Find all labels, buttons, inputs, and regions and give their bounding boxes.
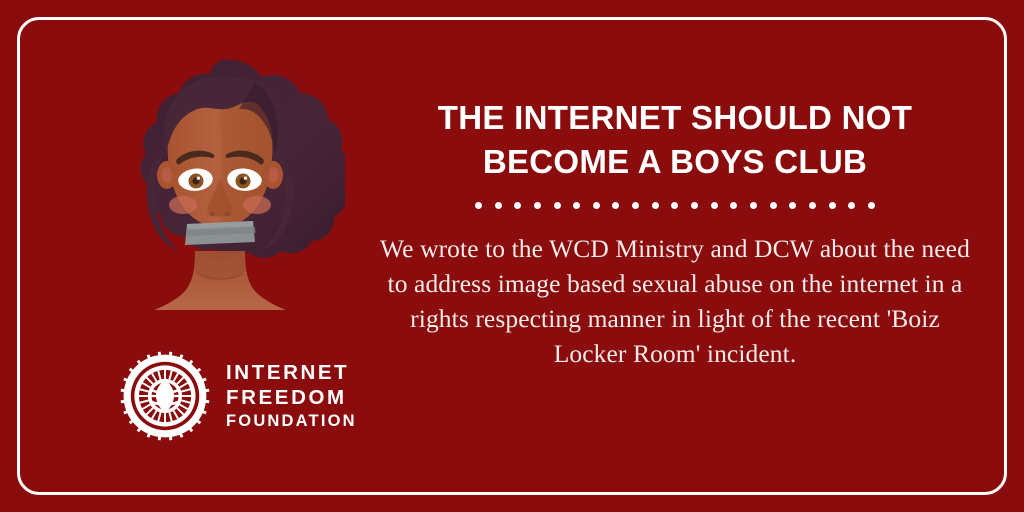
chakra-spoke (139, 395, 148, 397)
message-block: THE INTERNET SHOULD NOT BECOME A BOYS CL… (370, 96, 980, 371)
chakra-spoke (181, 399, 190, 403)
divider-dot (475, 202, 482, 209)
poster-canvas: THE INTERNET SHOULD NOT BECOME A BOYS CL… (0, 0, 1024, 512)
chakra-spoke (173, 373, 179, 382)
illustration-woman-with-taped-mouth (95, 55, 345, 310)
chakra-spoke (142, 382, 151, 388)
logo-text-internet: INTERNET (226, 360, 357, 385)
chakra-spoke (173, 410, 179, 419)
divider-dot (514, 202, 521, 209)
divider-dot (711, 202, 718, 209)
divider-dot (730, 202, 737, 209)
chakra-spoke (176, 407, 184, 415)
ashoka-chakra-globe-icon (120, 351, 210, 441)
divider-dot (691, 202, 698, 209)
dotted-divider (475, 201, 875, 209)
chakra-spoke (164, 413, 166, 422)
mouth-tape-icon (185, 221, 256, 245)
divider-dot (652, 202, 659, 209)
chakra-spoke (146, 407, 154, 415)
chakra-spoke (182, 395, 191, 397)
divider-dot (573, 202, 580, 209)
chakra-spoke (157, 371, 161, 380)
logo-text-freedom: FREEDOM (226, 385, 357, 410)
logo-text-foundation: FOUNDATION (226, 410, 357, 433)
chakra-spoke (146, 377, 154, 385)
divider-dot (495, 202, 502, 209)
chakra-spoke (142, 404, 151, 410)
chakra-spoke (157, 412, 161, 421)
divider-dot (829, 202, 836, 209)
body-text: We wrote to the WCD Ministry and DCW abo… (375, 231, 975, 371)
chakra-spoke (181, 388, 190, 392)
divider-dot (770, 202, 777, 209)
neck-and-shoulders (135, 251, 305, 310)
divider-dot (671, 202, 678, 209)
divider-dot (593, 202, 600, 209)
chakra-spoke (179, 404, 188, 410)
logo-lockup: INTERNET FREEDOM FOUNDATION (120, 351, 357, 441)
divider-dot (750, 202, 757, 209)
chakra-spoke (151, 373, 157, 382)
divider-dot (632, 202, 639, 209)
divider-dot (534, 202, 541, 209)
divider-dot (612, 202, 619, 209)
chakra-spoke (168, 371, 172, 380)
chakra-spoke (164, 370, 166, 379)
chakra-spoke (140, 388, 149, 392)
headline-line-2: BECOME A BOYS CLUB (370, 140, 980, 184)
chakra-spoke (140, 399, 149, 403)
chakra-spoke (151, 410, 157, 419)
divider-dot (554, 202, 561, 209)
divider-dot (809, 202, 816, 209)
divider-dot (868, 202, 875, 209)
logo-wordmark: INTERNET FREEDOM FOUNDATION (226, 360, 357, 433)
chakra-spoke (176, 377, 184, 385)
chakra-spoke (168, 412, 172, 421)
divider-dot (789, 202, 796, 209)
divider-dot (848, 202, 855, 209)
headline-line-1: THE INTERNET SHOULD NOT (370, 96, 980, 140)
chakra-spoke (179, 382, 188, 388)
